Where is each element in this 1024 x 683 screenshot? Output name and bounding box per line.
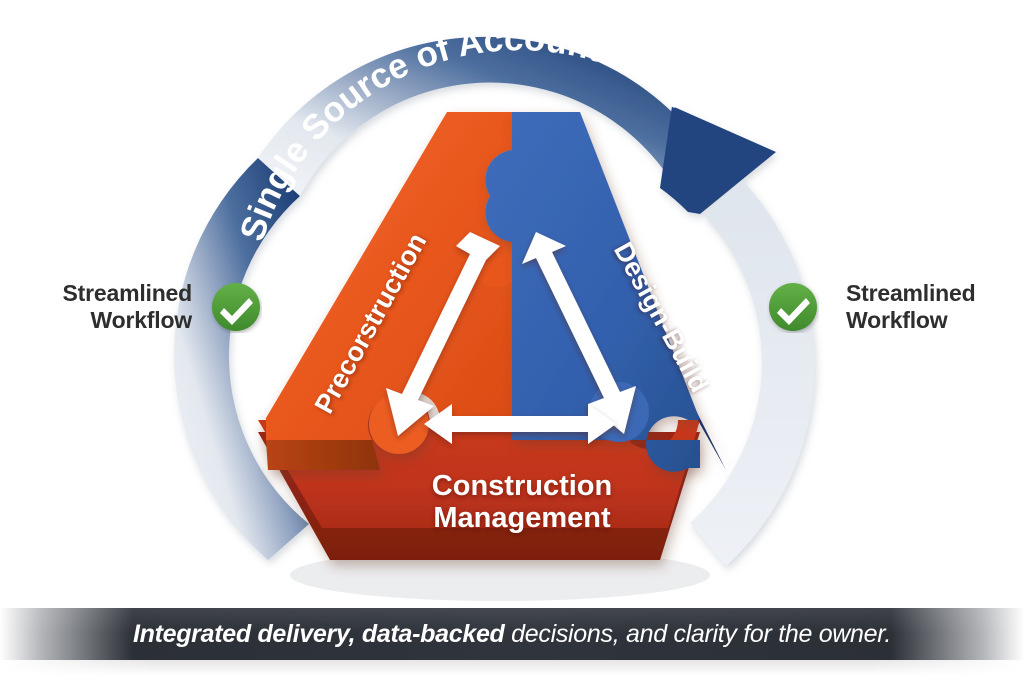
green-check-badge-icon-right xyxy=(767,281,819,333)
footer-banner: Integrated delivery, data-backed decisio… xyxy=(0,608,1024,660)
footer-text-strong: Integrated delivery, data-backed xyxy=(133,620,511,648)
footer-text-light: decisions, and clarity for the owner. xyxy=(511,620,891,648)
side-label-left: Streamlined Workflow xyxy=(40,280,192,334)
green-check-badge-icon-left xyxy=(210,281,262,333)
footer-text: Integrated delivery, data-backed decisio… xyxy=(133,620,891,649)
banner-shadow xyxy=(0,660,1024,676)
infographic-canvas: Single Source of Accountability xyxy=(0,0,1024,683)
triangle-puzzle xyxy=(0,0,1024,683)
side-label-right: Streamlined Workflow xyxy=(846,280,1006,334)
